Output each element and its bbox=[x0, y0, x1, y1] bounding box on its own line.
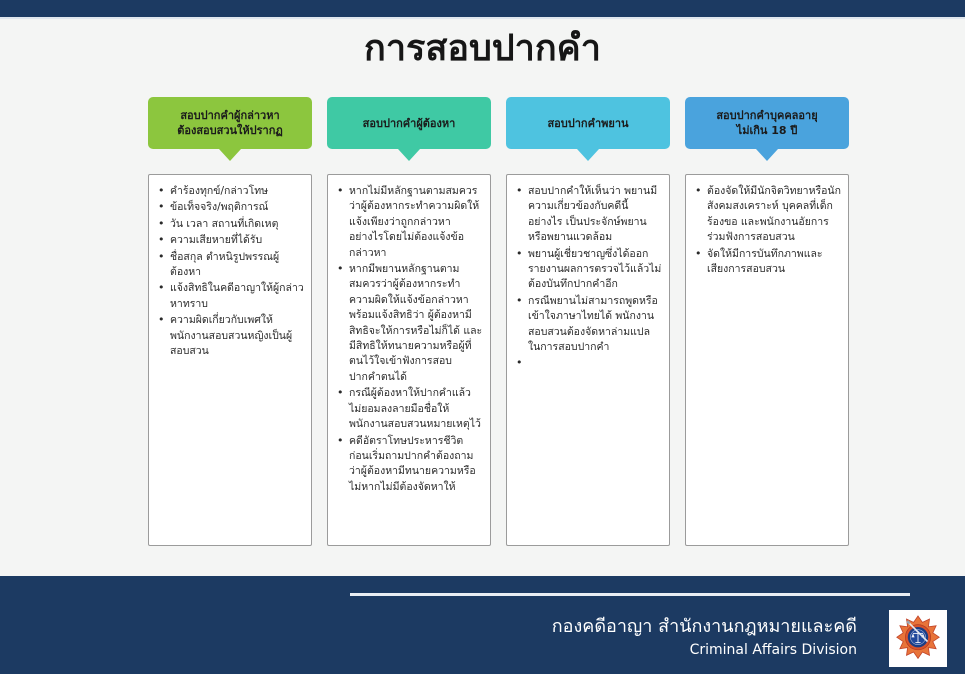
column-header-line1: สอบปากคำบุคคลอายุ bbox=[716, 109, 817, 122]
list-item: แจ้งสิทธิในคดีอาญาให้ผู้กล่าวหาทราบ bbox=[154, 281, 304, 312]
columns-container: สอบปากคำผู้กล่าวหา ต้องสอบสวนให้ปรากฏ คำ… bbox=[148, 97, 842, 546]
list-item: สอบปากคำให้เห็นว่า พยานมีความเกี่ยวข้องก… bbox=[512, 184, 662, 246]
column-accuser: สอบปากคำผู้กล่าวหา ต้องสอบสวนให้ปรากฏ คำ… bbox=[148, 97, 312, 546]
footer-thai-label: กองคดีอาญา สำนักงานกฎหมายและคดี bbox=[552, 614, 857, 640]
column-witness: สอบปากคำพยาน สอบปากคำให้เห็นว่า พยานมีคว… bbox=[506, 97, 670, 546]
list-item: หากไม่มีหลักฐานตามสมควรว่าผู้ต้องหากระทำ… bbox=[333, 184, 483, 261]
column-header-line1: สอบปากคำผู้กล่าวหา bbox=[180, 109, 279, 122]
list-item-empty bbox=[512, 356, 662, 371]
list-item: ความผิดเกี่ยวกับเพศให้พนักงานสอบสวนหญิงเ… bbox=[154, 313, 304, 359]
list-item: กรณีผู้ต้องหาให้ปากคำแล้วไม่ยอมลงลายมือช… bbox=[333, 386, 483, 432]
list-item: พยานผู้เชี่ยวชาญซึ่งได้ออกรายงานผลการตรว… bbox=[512, 247, 662, 293]
column-pointer-suspect bbox=[398, 149, 420, 161]
list-item: หากมีพยานหลักฐานตามสมควรว่าผู้ต้องหากระท… bbox=[333, 262, 483, 385]
column-suspect: สอบปากคำผู้ต้องหา หากไม่มีหลักฐานตามสมคว… bbox=[327, 97, 491, 546]
column-header-witness: สอบปากคำพยาน bbox=[506, 97, 670, 149]
column-header-line1: สอบปากคำพยาน bbox=[547, 117, 628, 130]
top-band-edge bbox=[0, 17, 965, 19]
list-item: ข้อเท็จจริง/พฤติการณ์ bbox=[154, 200, 304, 215]
column-body-minor: ต้องจัดให้มีนักจิตวิทยาหรือนักสังคมสงเคร… bbox=[685, 174, 849, 546]
column-header-accuser: สอบปากคำผู้กล่าวหา ต้องสอบสวนให้ปรากฏ bbox=[148, 97, 312, 149]
footer-text-block: กองคดีอาญา สำนักงานกฎหมายและคดี Criminal… bbox=[552, 614, 857, 660]
footer-divider bbox=[350, 593, 910, 596]
column-header-line1: สอบปากคำผู้ต้องหา bbox=[363, 117, 456, 130]
list-item: จัดให้มีการบันทึกภาพและเสียงการสอบสวน bbox=[691, 247, 841, 278]
column-pointer-accuser bbox=[219, 149, 241, 161]
column-pointer-minor bbox=[756, 149, 778, 161]
top-navy-band bbox=[0, 0, 965, 17]
column-body-accuser: คำร้องทุกข์/กล่าวโทษ ข้อเท็จจริง/พฤติการ… bbox=[148, 174, 312, 546]
list-item: คดีอัตราโทษประหารชีวิตก่อนเริ่มถามปากคำต… bbox=[333, 434, 483, 496]
footer-english-label: Criminal Affairs Division bbox=[552, 640, 857, 660]
column-header-line2: ต้องสอบสวนให้ปรากฏ bbox=[177, 124, 283, 137]
slide-canvas: การสอบปากคำ สอบปากคำผู้กล่าวหา ต้องสอบสว… bbox=[0, 0, 965, 674]
column-body-witness: สอบปากคำให้เห็นว่า พยานมีความเกี่ยวข้องก… bbox=[506, 174, 670, 546]
page-title: การสอบปากคำ bbox=[0, 26, 965, 72]
list-item: ชื่อสกุล ตำหนิรูปพรรณผู้ต้องหา bbox=[154, 250, 304, 281]
column-header-minor: สอบปากคำบุคคลอายุ ไม่เกิน 18 ปี bbox=[685, 97, 849, 149]
column-header-suspect: สอบปากคำผู้ต้องหา bbox=[327, 97, 491, 149]
column-minor: สอบปากคำบุคคลอายุ ไม่เกิน 18 ปี ต้องจัดใ… bbox=[685, 97, 849, 546]
column-header-line2: ไม่เกิน 18 ปี bbox=[737, 124, 798, 137]
column-pointer-witness bbox=[577, 149, 599, 161]
justice-scales-seal-icon bbox=[889, 610, 947, 667]
list-item: ความเสียหายที่ได้รับ bbox=[154, 233, 304, 248]
column-body-suspect: หากไม่มีหลักฐานตามสมควรว่าผู้ต้องหากระทำ… bbox=[327, 174, 491, 546]
list-item: ต้องจัดให้มีนักจิตวิทยาหรือนักสังคมสงเคร… bbox=[691, 184, 841, 246]
list-item: วัน เวลา สถานที่เกิดเหตุ bbox=[154, 217, 304, 232]
list-item: กรณีพยานไม่สามารถพูดหรือเข้าใจภาษาไทยได้… bbox=[512, 294, 662, 356]
list-item: คำร้องทุกข์/กล่าวโทษ bbox=[154, 184, 304, 199]
